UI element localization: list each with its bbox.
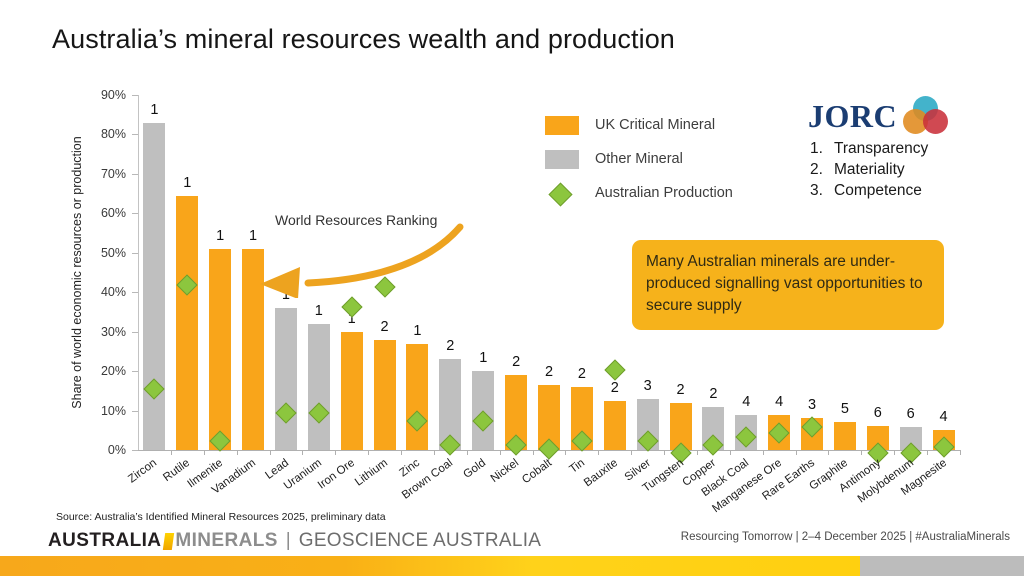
bar-rank-label: 2 [545,364,553,380]
bar[interactable] [209,249,231,450]
legend-label: Australian Production [595,185,733,201]
bar-group[interactable]: 1Iron Ore [335,95,368,450]
legend-item[interactable]: Other Mineral [545,142,733,176]
bar-rank-label: 1 [479,350,487,366]
y-tick-label: 40% [101,285,126,299]
strip-grey [860,556,1024,576]
bar[interactable] [143,123,165,450]
bar-rank-label: 1 [249,228,257,244]
legend-diamond-icon [545,184,579,203]
production-marker[interactable] [604,359,625,380]
bar-rank-label: 2 [512,354,520,370]
bar-rank-label: 2 [709,386,717,402]
brand-australia: AUSTRALIA [48,530,161,552]
bar-group[interactable]: 2Brown Coal [434,95,467,450]
bar-group[interactable]: 1Zinc [401,95,434,450]
annotation-label: World Resources Ranking [275,212,437,228]
jorc-principle-number: 2. [810,159,834,180]
bar-rank-label: 4 [742,394,750,410]
production-marker[interactable] [374,276,395,297]
callout-box: Many Australian minerals are under-produ… [632,240,944,330]
bar-group[interactable]: 1Vanadium [237,95,270,450]
legend-swatch-grey [545,150,579,169]
legend-label: UK Critical Mineral [595,117,715,133]
bar-rank-label: 4 [940,409,948,425]
bar-rank-label: 1 [216,228,224,244]
y-tick-label: 10% [101,404,126,418]
bar[interactable] [341,332,363,450]
y-tick-label: 90% [101,88,126,102]
jorc-header: JORC [808,96,1018,136]
brand-separator: | [286,530,291,552]
bar-rank-label: 2 [611,380,619,396]
source-note: Source: Australia’s Identified Mineral R… [56,511,386,523]
jorc-principles-list: 1.Transparency2.Materiality3.Competence [810,138,1018,201]
bar[interactable] [834,422,856,450]
jorc-principle-number: 3. [810,180,834,201]
bar-rank-label: 2 [676,382,684,398]
bar-rank-label: 4 [775,394,783,410]
jorc-logo-icon [903,96,949,136]
bar-rank-label: 6 [874,405,882,421]
brand-mark-icon [163,533,174,550]
bar-group[interactable]: 1Uranium [302,95,335,450]
bar-rank-label: 3 [644,378,652,394]
bar[interactable] [242,249,264,450]
x-tick-mark [598,450,599,455]
bar-rank-label: 1 [315,303,323,319]
bar[interactable] [308,324,330,450]
bar-rank-label: 2 [381,319,389,335]
jorc-principle: 1.Transparency [810,138,1018,159]
bar-group[interactable]: 2Nickel [500,95,533,450]
callout-text: Many Australian minerals are under-produ… [646,251,930,317]
jorc-principle-label: Competence [834,180,922,201]
bar-group[interactable]: 1Gold [467,95,500,450]
brand-lockup: AUSTRALIA MINERALS | GEOSCIENCE AUSTRALI… [48,528,541,554]
bar-rank-label: 1 [282,287,290,303]
bar-rank-label: 5 [841,401,849,417]
production-marker[interactable] [341,296,362,317]
legend-label: Other Mineral [595,151,683,167]
bar[interactable] [275,308,297,450]
bar-rank-label: 6 [907,406,915,422]
brand-minerals: MINERALS [175,530,277,552]
jorc-principle-label: Materiality [834,159,905,180]
bar[interactable] [176,196,198,450]
chart-legend: UK Critical MineralOther MineralAustrali… [545,108,733,210]
bar-rank-label: 2 [446,338,454,354]
y-axis-tick-labels: 0%10%20%30%40%50%60%70%80%90% [86,95,132,450]
footer-bar: AUSTRALIA MINERALS | GEOSCIENCE AUSTRALI… [40,528,1024,554]
bar[interactable] [406,344,428,451]
bar-rank-label: 3 [808,397,816,413]
bar-group[interactable]: 1Ilmenite [204,95,237,450]
bar-group[interactable]: 1Lead [270,95,303,450]
bar-group[interactable]: 1Rutile [171,95,204,450]
jorc-principle-number: 1. [810,138,834,159]
jorc-principle-label: Transparency [834,138,928,159]
bar[interactable] [604,401,626,450]
legend-item[interactable]: Australian Production [545,176,733,210]
bar-rank-label: 1 [183,175,191,191]
bar-rank-label: 1 [413,323,421,339]
brand-agency: GEOSCIENCE AUSTRALIA [299,530,542,552]
bar[interactable] [374,340,396,450]
y-tick-label: 0% [108,443,126,457]
y-tick-label: 50% [101,246,126,260]
y-tick-label: 80% [101,127,126,141]
strip-yellow [0,556,860,576]
jorc-block: JORC 1.Transparency2.Materiality3.Compet… [808,96,1018,201]
bar-rank-label: 1 [150,102,158,118]
bar-group[interactable]: 1Zircon [138,95,171,450]
y-tick-label: 30% [101,325,126,339]
jorc-principle: 2.Materiality [810,159,1018,180]
y-tick-label: 70% [101,167,126,181]
page-title: Australia’s mineral resources wealth and… [52,24,675,55]
jorc-principle: 3.Competence [810,180,1018,201]
bar-group[interactable]: 2Lithium [368,95,401,450]
y-tick-label: 20% [101,364,126,378]
legend-swatch-orange [545,116,579,135]
bar-rank-label: 2 [578,366,586,382]
jorc-wordmark: JORC [808,98,897,135]
y-tick-label: 60% [101,206,126,220]
slide: Australia’s mineral resources wealth and… [0,0,1024,576]
footer-event-info: Resourcing Tomorrow | 2–4 December 2025 … [681,531,1010,543]
legend-item[interactable]: UK Critical Mineral [545,108,733,142]
bottom-accent-strip [0,556,1024,576]
